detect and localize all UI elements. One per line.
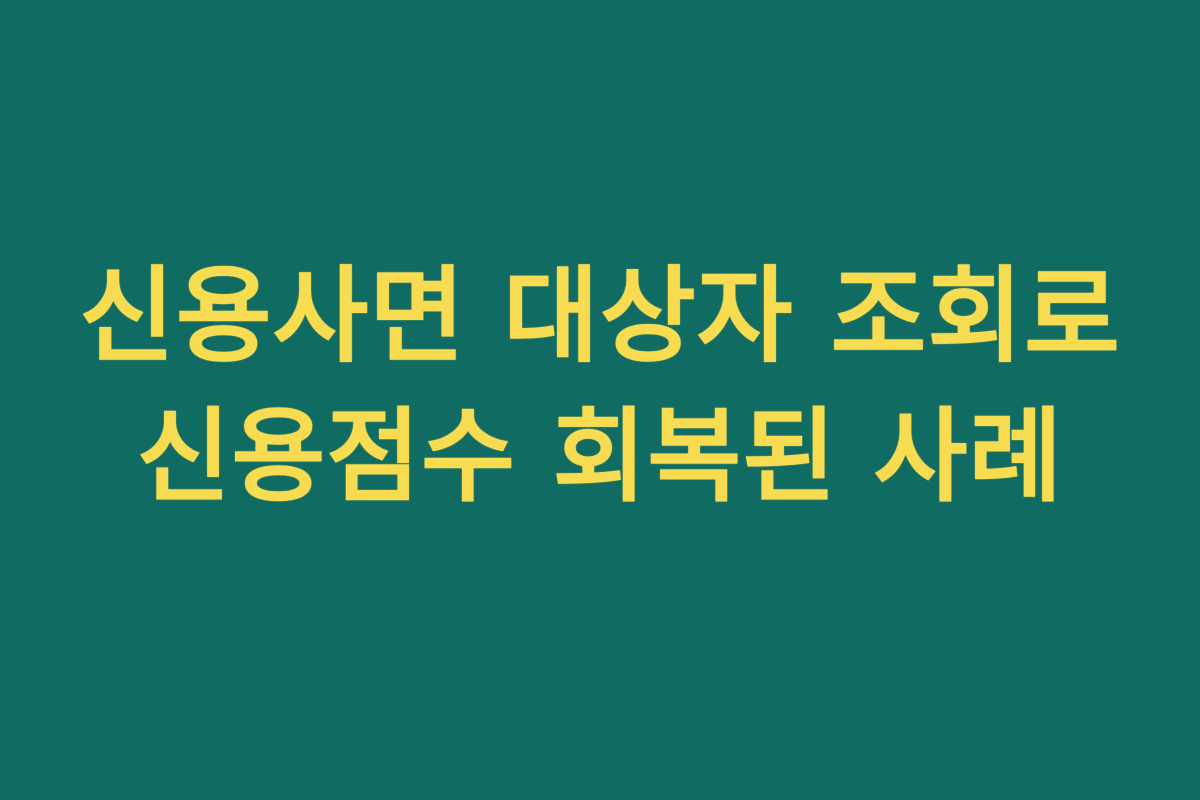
headline-line-1: 신용사면 대상자 조회로 (40, 245, 1160, 387)
headline-line-2: 신용점수 회복된 사례 (40, 387, 1160, 529)
headline-block: 신용사면 대상자 조회로 신용점수 회복된 사례 (0, 245, 1200, 529)
promo-banner: 신용사면 대상자 조회로 신용점수 회복된 사례 (0, 0, 1200, 800)
